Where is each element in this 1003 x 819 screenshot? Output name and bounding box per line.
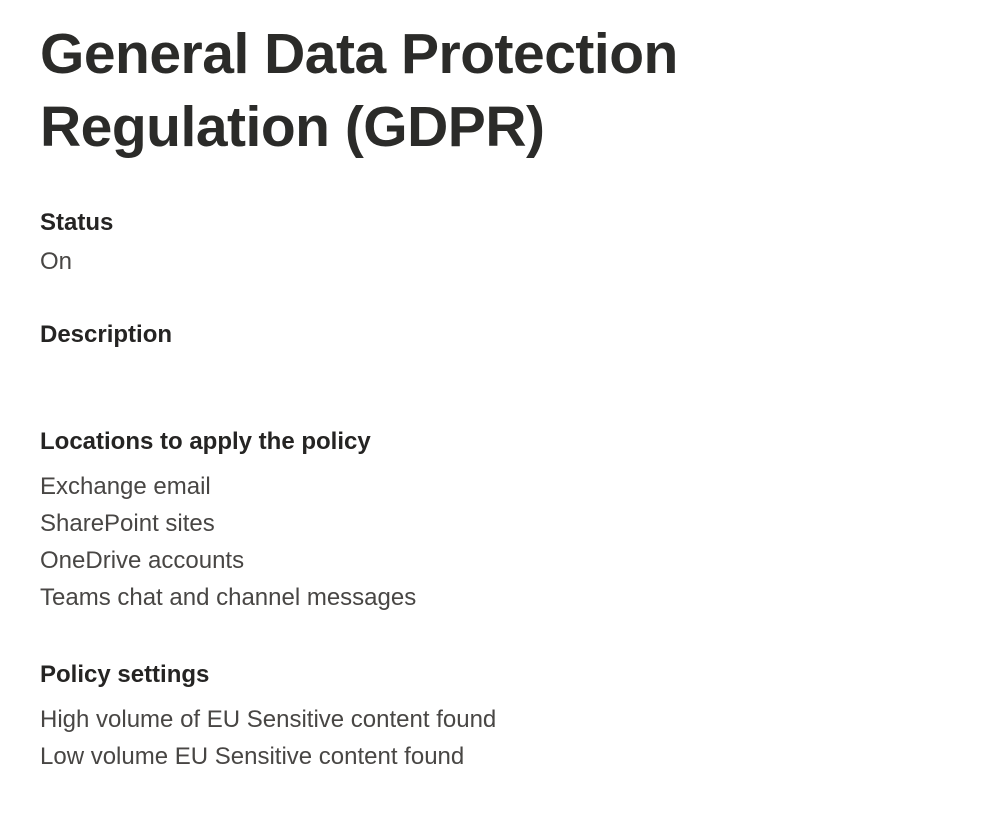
locations-label: Locations to apply the policy bbox=[40, 427, 963, 457]
page-title: General Data Protection Regulation (GDPR… bbox=[40, 0, 963, 164]
policy-details-page: General Data Protection Regulation (GDPR… bbox=[0, 0, 1003, 819]
description-value bbox=[40, 357, 963, 387]
locations-list: Exchange email SharePoint sites OneDrive… bbox=[40, 468, 963, 616]
status-value: On bbox=[40, 245, 963, 279]
policy-settings-label: Policy settings bbox=[40, 660, 963, 690]
list-item: Exchange email bbox=[40, 468, 963, 505]
list-item: Teams chat and channel messages bbox=[40, 579, 963, 616]
section-status: Status On bbox=[40, 208, 963, 279]
list-item: High volume of EU Sensitive content foun… bbox=[40, 701, 963, 738]
section-description: Description bbox=[40, 320, 963, 387]
section-policy-settings: Policy settings High volume of EU Sensit… bbox=[40, 660, 963, 775]
section-locations: Locations to apply the policy Exchange e… bbox=[40, 427, 963, 616]
list-item: Low volume EU Sensitive content found bbox=[40, 738, 963, 775]
list-item: SharePoint sites bbox=[40, 505, 963, 542]
description-label: Description bbox=[40, 320, 963, 350]
list-item: OneDrive accounts bbox=[40, 542, 963, 579]
policy-settings-list: High volume of EU Sensitive content foun… bbox=[40, 701, 963, 775]
status-label: Status bbox=[40, 208, 963, 238]
